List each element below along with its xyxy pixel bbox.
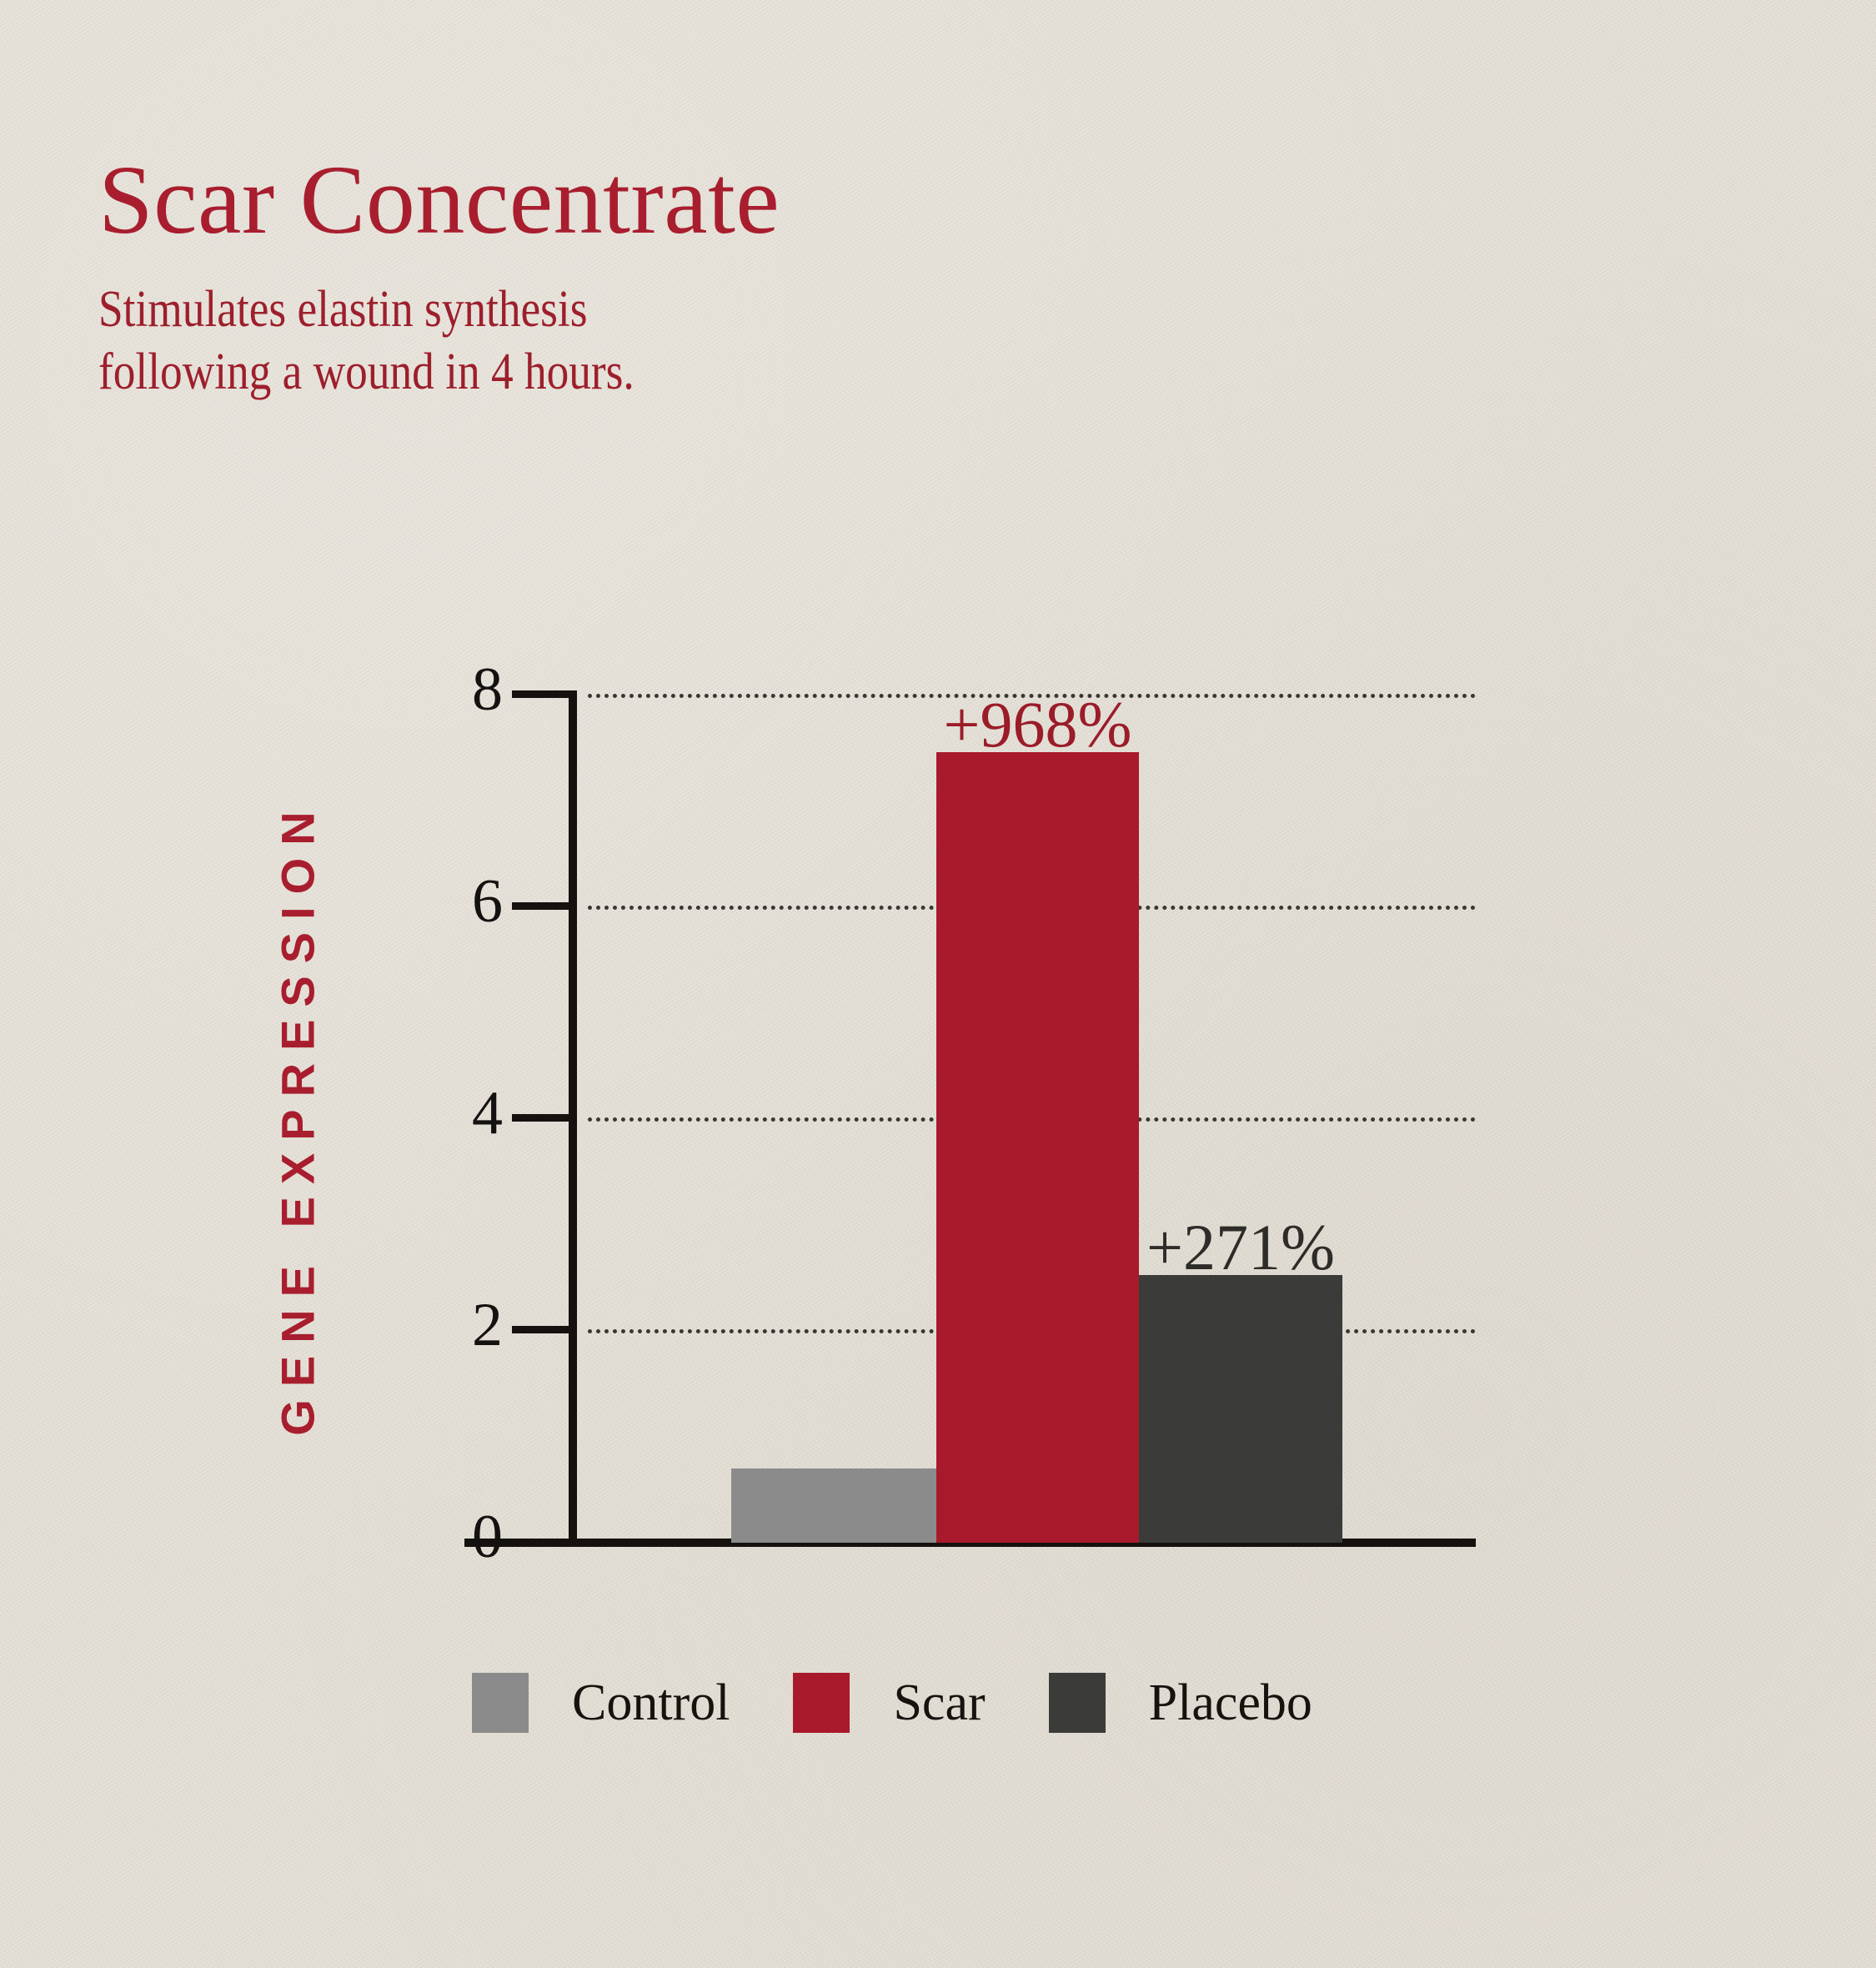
legend-swatch-scar-icon	[793, 1673, 850, 1733]
bar-placebo	[1139, 1275, 1342, 1543]
tick-mark-2	[512, 1326, 577, 1333]
y-axis-line	[569, 690, 577, 1545]
legend-label-scar: Scar	[893, 1677, 985, 1729]
tick-mark-4	[512, 1114, 577, 1122]
legend-swatch-control-icon	[472, 1673, 529, 1733]
legend-item-control: Control	[472, 1673, 730, 1733]
bar-value-placebo: +271%	[1139, 1215, 1342, 1280]
chart-legend: Control Scar Placebo	[472, 1673, 1312, 1733]
y-axis-title: GENE EXPRESSION	[271, 799, 325, 1435]
bar-chart: 8 6 4 2 0 GENE EXPRESSION +968% +271% Co…	[0, 0, 1876, 1968]
legend-item-scar: Scar	[793, 1673, 985, 1733]
bar-scar	[936, 752, 1139, 1543]
tick-mark-8	[512, 690, 577, 698]
legend-item-placebo: Placebo	[1049, 1673, 1312, 1733]
legend-swatch-placebo-icon	[1049, 1673, 1106, 1733]
bar-value-scar: +968%	[936, 692, 1139, 757]
poster-canvas: Scar Concentrate Stimulates elastin synt…	[0, 0, 1876, 1968]
bar-control	[731, 1468, 936, 1543]
legend-label-control: Control	[572, 1677, 730, 1729]
tick-mark-6	[512, 902, 577, 910]
legend-label-placebo: Placebo	[1149, 1677, 1312, 1729]
